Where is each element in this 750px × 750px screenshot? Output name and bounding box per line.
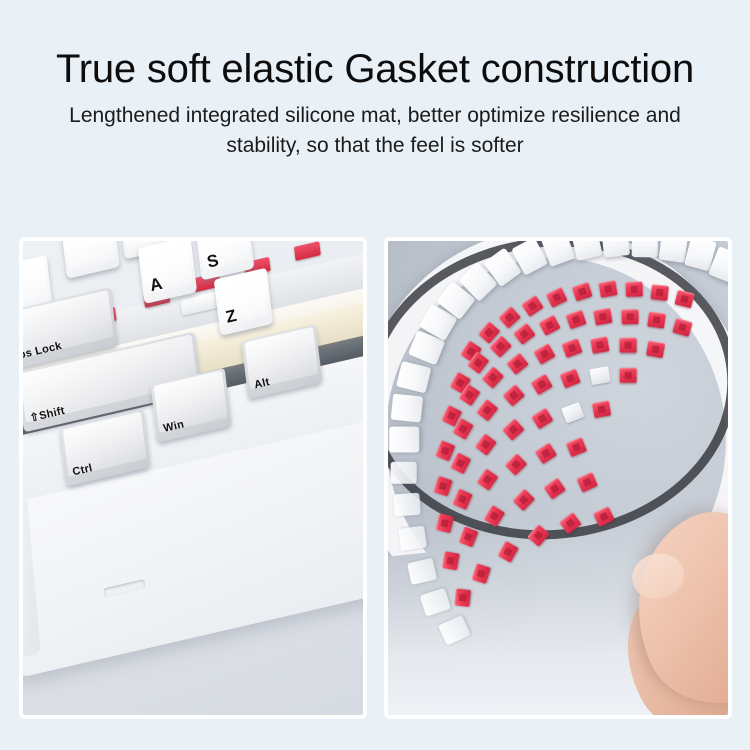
keyboard-corner-photo: Tab ⭰ ⭲ A S Z xyxy=(23,241,363,715)
subtitle-line-2: stability, so that the feel is softer xyxy=(0,131,750,161)
panel-keyboard-corner: Tab ⭰ ⭲ A S Z xyxy=(20,238,366,718)
product-feature-page: True soft elastic Gasket construction Le… xyxy=(0,0,750,750)
plate-tooth xyxy=(438,615,471,646)
flexed-keyboard-assembly xyxy=(388,241,728,714)
keycap-s-label: S xyxy=(197,250,222,280)
switch-stem xyxy=(294,241,321,261)
keycap-z-label: Z xyxy=(216,306,240,336)
page-subtitle: Lengthened integrated silicone mat, bett… xyxy=(0,92,750,161)
keycap-q xyxy=(60,241,119,279)
panel-flexed-keyboard xyxy=(385,238,731,718)
keycap-shift-text: Shift xyxy=(38,405,66,423)
header: True soft elastic Gasket construction Le… xyxy=(0,0,750,161)
plate-tooth xyxy=(398,525,427,550)
keycap-top-face xyxy=(64,241,116,269)
keycap-a-label: A xyxy=(140,274,166,304)
keycap-z: Z xyxy=(214,268,273,336)
flexed-keyboard-photo xyxy=(388,241,728,715)
photo-panels: Tab ⭰ ⭲ A S Z xyxy=(0,238,750,716)
plate-tooth xyxy=(391,462,417,484)
page-title: True soft elastic Gasket construction xyxy=(0,0,750,92)
plate-tooth xyxy=(420,588,452,617)
plate-tooth xyxy=(393,493,420,517)
subtitle-line-1: Lengthened integrated silicone mat, bett… xyxy=(0,101,750,131)
plate-tooth xyxy=(407,558,437,585)
